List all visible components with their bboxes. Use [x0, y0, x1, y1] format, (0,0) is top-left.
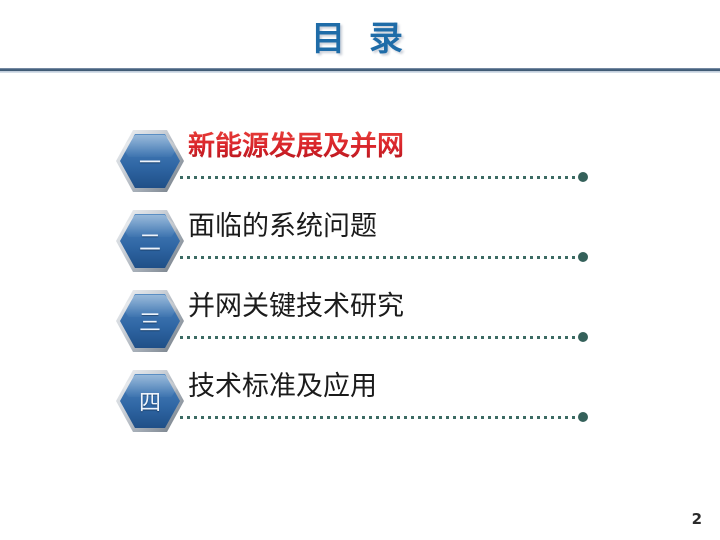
toc-item-number-3: 三: [116, 290, 184, 352]
toc-item-2[interactable]: 二 面临的系统问题: [0, 202, 720, 282]
toc-leader-end-dot-1: [578, 172, 588, 182]
toc-leader-line-4: [180, 416, 578, 419]
toc-item-label-2[interactable]: 面临的系统问题: [188, 208, 377, 246]
toc-item-label-4[interactable]: 技术标准及应用: [188, 368, 377, 406]
toc-item-body-3: 并网关键技术研究: [188, 288, 588, 356]
toc-leader-end-dot-3: [578, 332, 588, 342]
hexagon-badge-4[interactable]: 四: [116, 370, 184, 432]
toc-leader-end-dot-2: [578, 252, 588, 262]
header-divider-lower-rule: [0, 71, 720, 73]
toc-item-number-2: 二: [116, 210, 184, 272]
toc-item-number-1: 一: [116, 130, 184, 192]
toc-item-body-4: 技术标准及应用: [188, 368, 588, 436]
hexagon-badge-1[interactable]: 一: [116, 130, 184, 192]
page-number: 2: [692, 510, 702, 528]
toc-item-body-1: 新能源发展及并网: [188, 128, 588, 196]
toc-leader-end-dot-4: [578, 412, 588, 422]
hexagon-badge-2[interactable]: 二: [116, 210, 184, 272]
hexagon-badge-3[interactable]: 三: [116, 290, 184, 352]
toc-item-body-2: 面临的系统问题: [188, 208, 588, 276]
toc-item-label-1[interactable]: 新能源发展及并网: [188, 128, 404, 166]
toc-item-4[interactable]: 四 技术标准及应用: [0, 362, 720, 442]
page-title: 目 录: [311, 18, 409, 60]
slide-table-of-contents: 目 录 一 新能源发展及并网: [0, 0, 720, 540]
toc-leader-line-2: [180, 256, 578, 259]
toc-list: 一 新能源发展及并网 二 面临的系统问题: [0, 122, 720, 442]
toc-item-3[interactable]: 三 并网关键技术研究: [0, 282, 720, 362]
toc-leader-line-1: [180, 176, 578, 179]
toc-item-label-3[interactable]: 并网关键技术研究: [188, 288, 404, 326]
toc-item-1[interactable]: 一 新能源发展及并网: [0, 122, 720, 202]
toc-leader-line-3: [180, 336, 578, 339]
header-divider: [0, 68, 720, 74]
page-title-container: 目 录: [0, 18, 720, 60]
toc-item-number-4: 四: [116, 370, 184, 432]
